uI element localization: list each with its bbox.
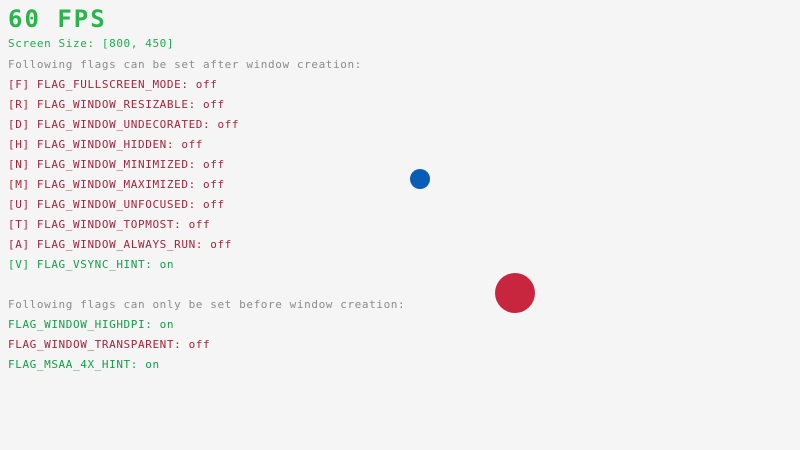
blue-ball-shape — [410, 169, 430, 189]
fps-counter: 60 FPS — [8, 7, 107, 31]
flag-row-window-topmost[interactable]: [T] FLAG_WINDOW_TOPMOST: off — [8, 219, 210, 230]
flag-row-vsync-hint[interactable]: [V] FLAG_VSYNC_HINT: on — [8, 259, 174, 270]
flag-row-window-maximized[interactable]: [M] FLAG_WINDOW_MAXIMIZED: off — [8, 179, 225, 190]
section-heading-before-creation: Following flags can only be set before w… — [8, 299, 405, 310]
flag-row-window-hidden[interactable]: [H] FLAG_WINDOW_HIDDEN: off — [8, 139, 203, 150]
red-ball-shape — [495, 273, 535, 313]
flag-row-window-minimized[interactable]: [N] FLAG_WINDOW_MINIMIZED: off — [8, 159, 225, 170]
flag-row-window-resizable[interactable]: [R] FLAG_WINDOW_RESIZABLE: off — [8, 99, 225, 110]
flag-row-msaa-4x-hint: FLAG_MSAA_4X_HINT: on — [8, 359, 160, 370]
flag-row-window-always-run[interactable]: [A] FLAG_WINDOW_ALWAYS_RUN: off — [8, 239, 232, 250]
section-heading-after-creation: Following flags can be set after window … — [8, 59, 362, 70]
raylib-window-canvas[interactable]: 60 FPS Screen Size: [800, 450] Following… — [0, 0, 800, 450]
flag-row-window-transparent: FLAG_WINDOW_TRANSPARENT: off — [8, 339, 210, 350]
screen-size-label: Screen Size: [800, 450] — [8, 38, 174, 49]
flag-row-window-highdpi: FLAG_WINDOW_HIGHDPI: on — [8, 319, 174, 330]
flag-row-window-unfocused[interactable]: [U] FLAG_WINDOW_UNFOCUSED: off — [8, 199, 225, 210]
flag-row-fullscreen-mode[interactable]: [F] FLAG_FULLSCREEN_MODE: off — [8, 79, 217, 90]
flag-row-window-undecorated[interactable]: [D] FLAG_WINDOW_UNDECORATED: off — [8, 119, 239, 130]
